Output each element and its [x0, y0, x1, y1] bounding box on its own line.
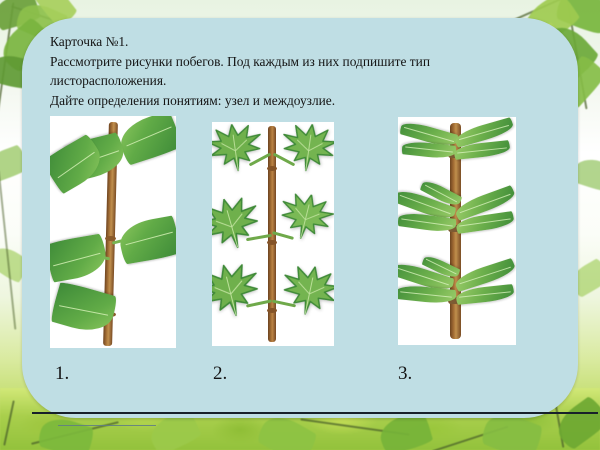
leaf-vein — [459, 125, 510, 141]
card-line-1: Карточка №1. — [50, 32, 550, 52]
leaf-vein — [126, 127, 171, 147]
leaf-vein — [404, 127, 453, 142]
leaf-vein — [53, 252, 100, 266]
slide-canvas: Карточка №1. Рассмотрите рисунки побегов… — [0, 0, 600, 450]
panel-number-2: 2. — [213, 363, 227, 385]
plant-illustration-whorled — [398, 117, 516, 345]
plant-leaf — [273, 188, 334, 246]
plant-leaf — [50, 233, 109, 282]
leaf-vein — [400, 291, 453, 298]
panel-number-1: 1. — [55, 363, 69, 385]
leaf-vein — [405, 147, 452, 153]
answer-rule-secondary — [58, 425, 156, 426]
plant-leaf — [212, 257, 268, 325]
card-text-block: Карточка №1. Рассмотрите рисунки побегов… — [50, 32, 550, 111]
plant-node — [267, 240, 277, 245]
leaf-vein — [59, 305, 109, 316]
leaf-vein — [460, 219, 511, 227]
card-line-4: Дайте определения понятиям: узел и междо… — [50, 91, 550, 111]
leaf-vein — [460, 292, 511, 298]
plant-leaf — [117, 215, 176, 264]
plant-node — [267, 166, 277, 171]
plant-leaf — [277, 122, 334, 176]
plant-leaf — [212, 122, 267, 176]
leaf-vein — [459, 193, 511, 213]
plant-leaf — [115, 116, 176, 166]
leaf-vein — [57, 151, 95, 178]
panel-number-3: 3. — [398, 363, 412, 385]
card-line-2: Рассмотрите рисунки побегов. Под каждым … — [50, 52, 550, 72]
plant-illustration-opposite — [212, 122, 334, 346]
answer-rule-main — [32, 412, 598, 414]
leaf-vein — [457, 147, 506, 153]
plant-leaf — [275, 260, 334, 321]
card-line-3: листорасположения. — [50, 71, 550, 91]
leaf-vein — [402, 218, 453, 226]
plant-leaf — [212, 190, 268, 257]
leaf-vein — [125, 232, 172, 246]
leaf-vein — [459, 266, 511, 284]
plant-panel-2 — [212, 122, 334, 346]
plant-panel-3 — [398, 117, 516, 345]
plant-illustration-alternate — [50, 116, 176, 348]
plant-panel-1 — [50, 116, 176, 348]
